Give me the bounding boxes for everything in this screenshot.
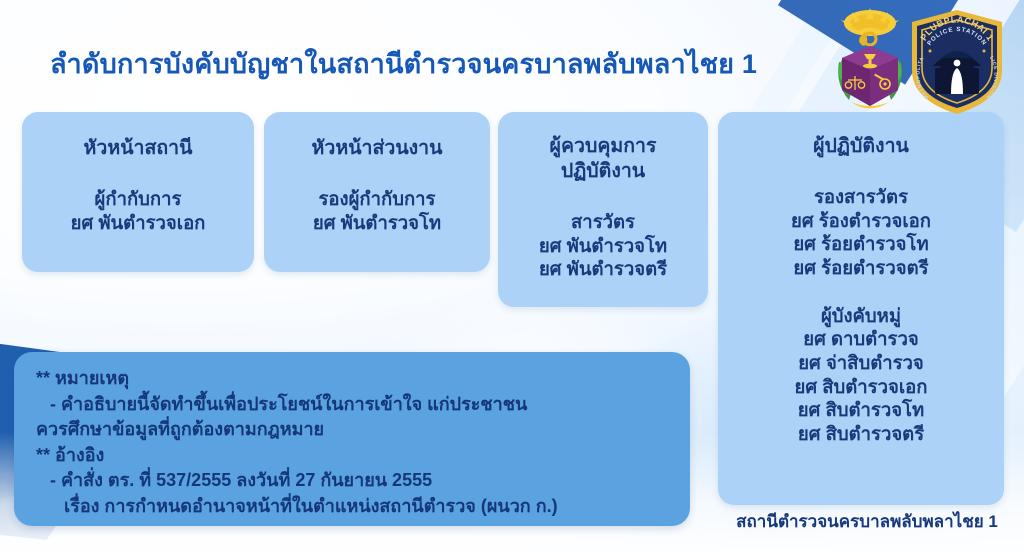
card-operators-role: ผู้ปฏิบัติงาน — [718, 134, 1004, 159]
card-division-chief-role: หัวหน้าส่วนงาน — [264, 136, 490, 161]
royal-thai-police-emblem — [827, 6, 913, 118]
card-operators-group1-rank-0: ยศ ร้องตำรวจเอก — [718, 209, 1004, 233]
card-operation-supervisor-rank-1: ยศ พันตำรวจโท — [498, 234, 708, 258]
card-operators-group1-rank-1: ยศ ร้อยตำรวจโท — [718, 232, 1004, 256]
card-operators-group2-rank-2: ยศ สิบตำรวจเอก — [718, 375, 1004, 399]
card-operators-group1-title: รองสารวัตร — [718, 185, 1004, 209]
card-station-chief-rank-0: ผู้กำกับการ — [22, 187, 254, 211]
card-operators: ผู้ปฏิบัติงาน รองสารวัตร ยศ ร้องตำรวจเอก… — [718, 112, 1004, 505]
page-title: ลำดับการบังคับบัญชาในสถานีตำรวจนครบาลพลั… — [50, 42, 757, 85]
notes-line-4: - คำสั่ง ตร. ที่ 537/2555 ลงวันที่ 27 กั… — [36, 468, 670, 494]
notes-line-3: ** อ้างอิง — [36, 443, 670, 469]
notes-box: ** หมายเหตุ - คำอธิบายนี้จัดทำขึ้นเพื่อป… — [14, 352, 690, 526]
card-operation-supervisor-role-line1: ผู้ควบคุมการ — [498, 134, 708, 159]
card-operation-supervisor-role-line2: ปฏิบัติงาน — [498, 159, 708, 184]
card-operation-supervisor: ผู้ควบคุมการ ปฏิบัติงาน สารวัตร ยศ พันตำ… — [498, 112, 708, 307]
card-division-chief: หัวหน้าส่วนงาน รองผู้กำกับการ ยศ พันตำรว… — [264, 112, 490, 272]
spacer — [718, 159, 1004, 185]
notes-line-0: ** หมายเหตุ — [36, 366, 670, 392]
footer-caption: สถานีตำรวจนครบาลพลับพลาไชย 1 — [722, 508, 1012, 535]
notes-line-1: - คำอธิบายนี้จัดทำขึ้นเพื่อประโยชน์ในการ… — [36, 392, 670, 418]
card-division-chief-rank-0: รองผู้กำกับการ — [264, 187, 490, 211]
card-operators-group2-rank-1: ยศ จ่าสิบตำรวจ — [718, 351, 1004, 375]
card-station-chief-role: หัวหน้าสถานี — [22, 136, 254, 161]
card-operation-supervisor-rank-0: สารวัตร — [498, 210, 708, 234]
spacer — [22, 161, 254, 187]
card-operators-group2-rank-4: ยศ สิบตำรวจตรี — [718, 422, 1004, 446]
card-operators-group2-rank-3: ยศ สิบตำรวจโท — [718, 398, 1004, 422]
spacer — [264, 161, 490, 187]
card-operation-supervisor-rank-2: ยศ พันตำรวจตรี — [498, 257, 708, 281]
spacer — [718, 280, 1004, 304]
plubplachai-1-police-station-badge: PLUBPLACHAI 1 POLICE STATION METROPOLITA… — [907, 8, 1007, 116]
card-division-chief-rank-1: ยศ พันตำรวจโท — [264, 211, 490, 235]
spacer — [498, 184, 708, 210]
card-station-chief-rank-1: ยศ พันตำรวจเอก — [22, 211, 254, 235]
notes-line-2: ควรศึกษาข้อมูลที่ถูกต้องตามกฎหมาย — [36, 417, 670, 443]
card-operators-group1-rank-2: ยศ ร้อยตำรวจตรี — [718, 256, 1004, 280]
card-station-chief: หัวหน้าสถานี ผู้กำกับการ ยศ พันตำรวจเอก — [22, 112, 254, 272]
notes-line-5: เรื่อง การกำหนดอำนาจหน้าที่ในตำแหน่งสถาน… — [36, 494, 670, 520]
card-operators-group2-title: ผู้บังคับหมู่ — [718, 304, 1004, 328]
card-operators-group2-rank-0: ยศ ดาบตำรวจ — [718, 327, 1004, 351]
